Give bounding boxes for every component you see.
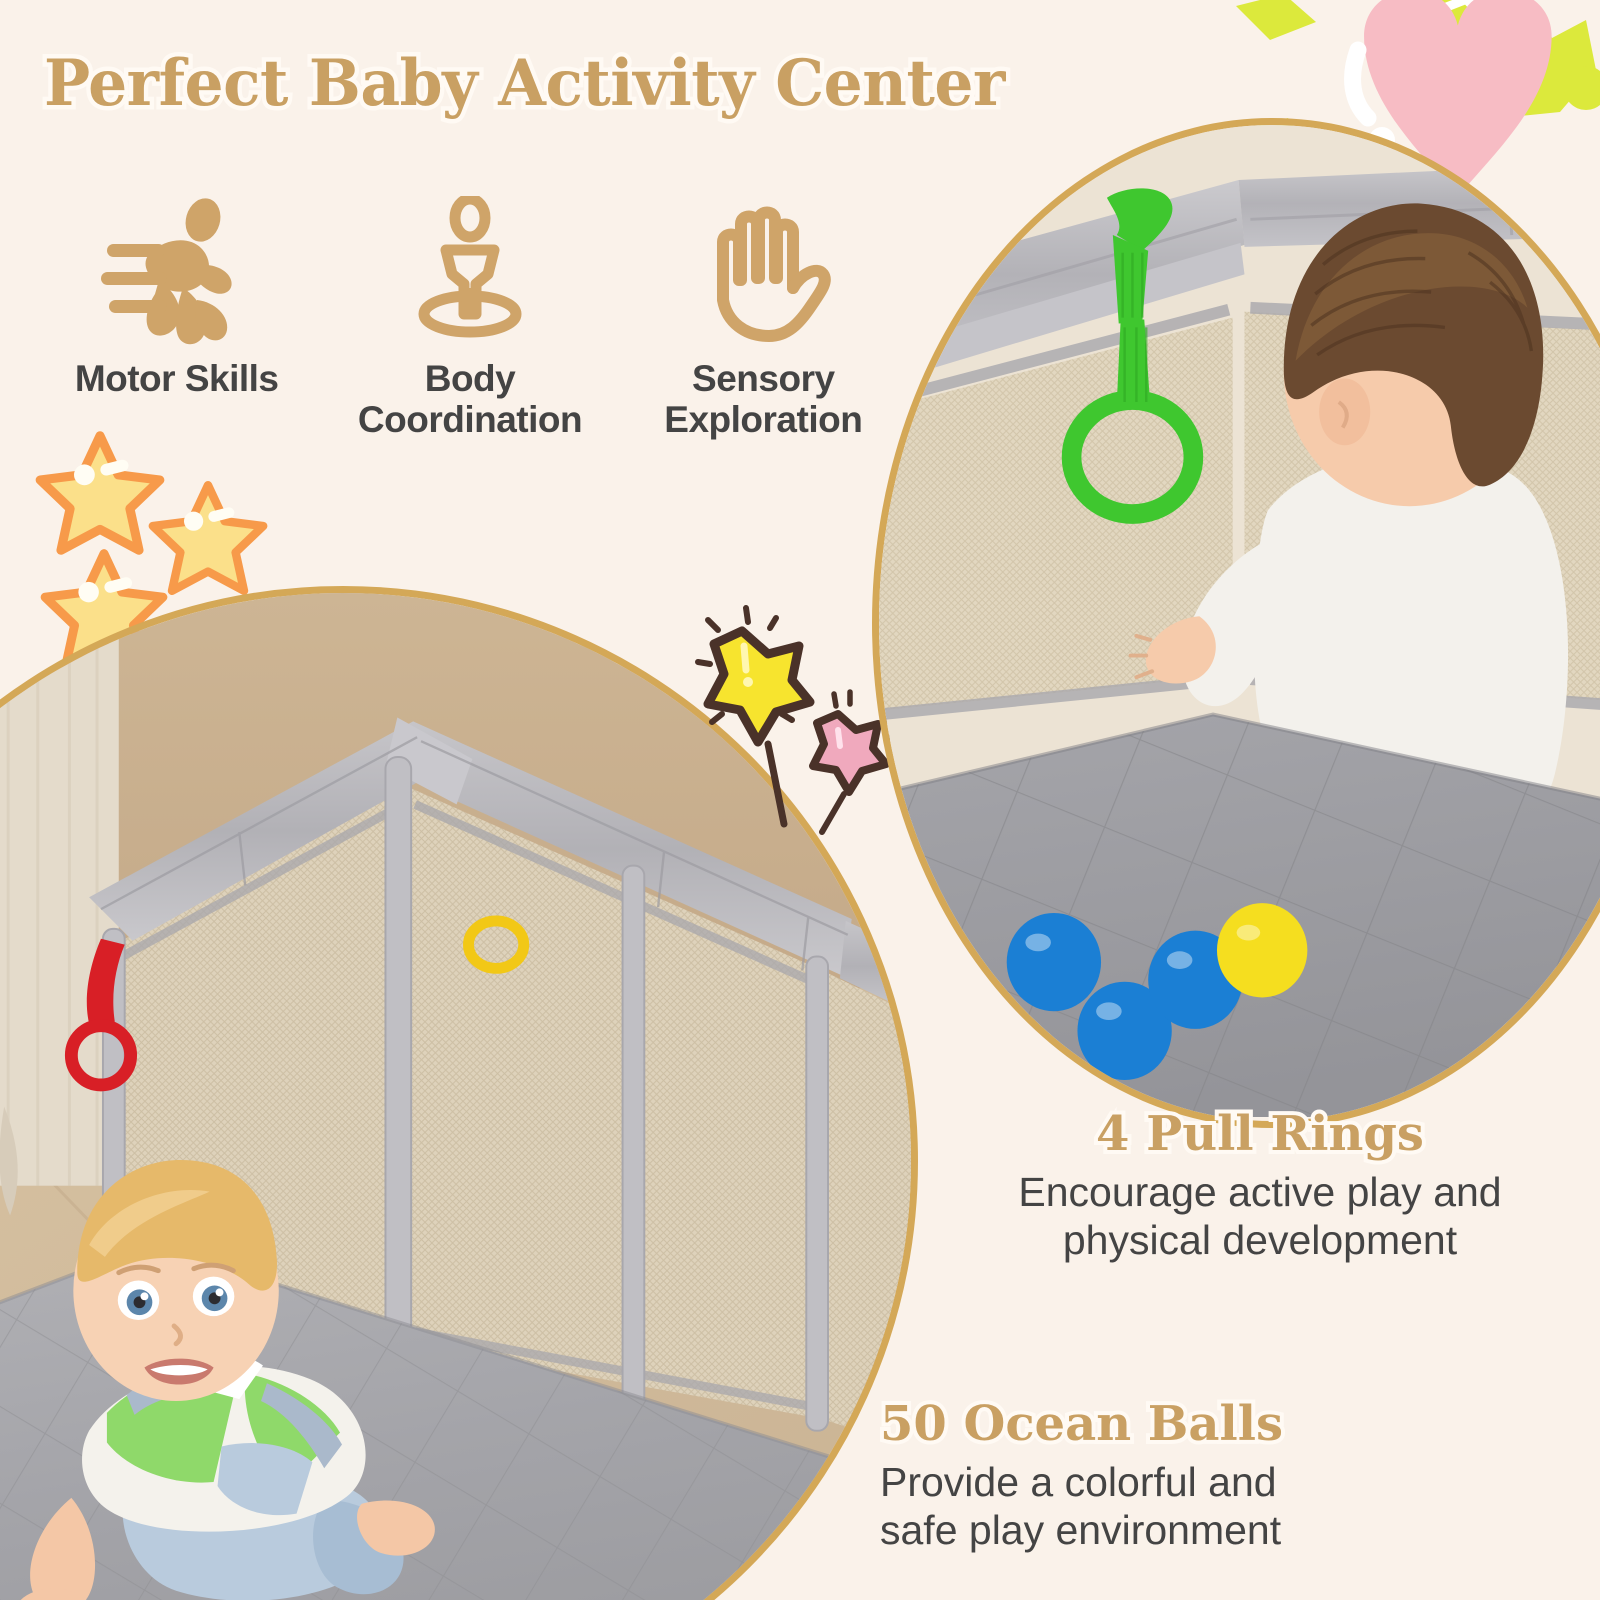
open-hand-icon: [683, 196, 843, 346]
poster-canvas: Perfect Baby Activity Center: [0, 0, 1600, 1600]
feature-item-motor-skills: Motor Skills: [30, 196, 323, 466]
callout-body: Provide a colorful and safe play environ…: [880, 1458, 1440, 1555]
callout-ocean-balls: 50 Ocean Balls Provide a colorful and sa…: [880, 1396, 1440, 1555]
callout-body-line2: physical development: [930, 1216, 1590, 1264]
feature-label: Body Coordination: [358, 358, 582, 441]
callout-heading: 50 Ocean Balls: [880, 1396, 1440, 1452]
magic-wand-decoration: [672, 596, 902, 841]
callout-body-line1: Encourage active play and: [930, 1168, 1590, 1216]
running-figure-icon: [97, 196, 257, 346]
pull-ring-detail-photo: [872, 118, 1600, 1128]
feature-label-line2: Coordination: [358, 399, 582, 440]
callout-body-line2: safe play environment: [880, 1506, 1440, 1554]
feature-label-line1: Motor Skills: [75, 358, 279, 399]
feature-label-line1: Body: [358, 358, 582, 399]
feature-item-body-coordination: Body Coordination: [323, 196, 616, 466]
feature-label: Motor Skills: [75, 358, 279, 399]
callout-body-line1: Provide a colorful and: [880, 1458, 1440, 1506]
balance-figure-icon: [390, 196, 550, 346]
feature-label: Sensory Exploration: [664, 358, 862, 441]
wand-star-yellow-icon: [698, 608, 810, 824]
callout-body: Encourage active play and physical devel…: [930, 1168, 1590, 1265]
page-title: Perfect Baby Activity Center: [44, 46, 1005, 121]
callout-heading: 4 Pull Rings: [930, 1106, 1590, 1162]
feature-label-line1: Sensory: [664, 358, 862, 399]
feature-label-line2: Exploration: [664, 399, 862, 440]
toddler-pull-ring-illustration: [879, 125, 1600, 1117]
callout-pull-rings: 4 Pull Rings Encourage active play and p…: [930, 1106, 1590, 1265]
feature-list: Motor Skills Body Coordination: [30, 196, 910, 466]
feature-item-sensory-exploration: Sensory Exploration: [617, 196, 910, 466]
